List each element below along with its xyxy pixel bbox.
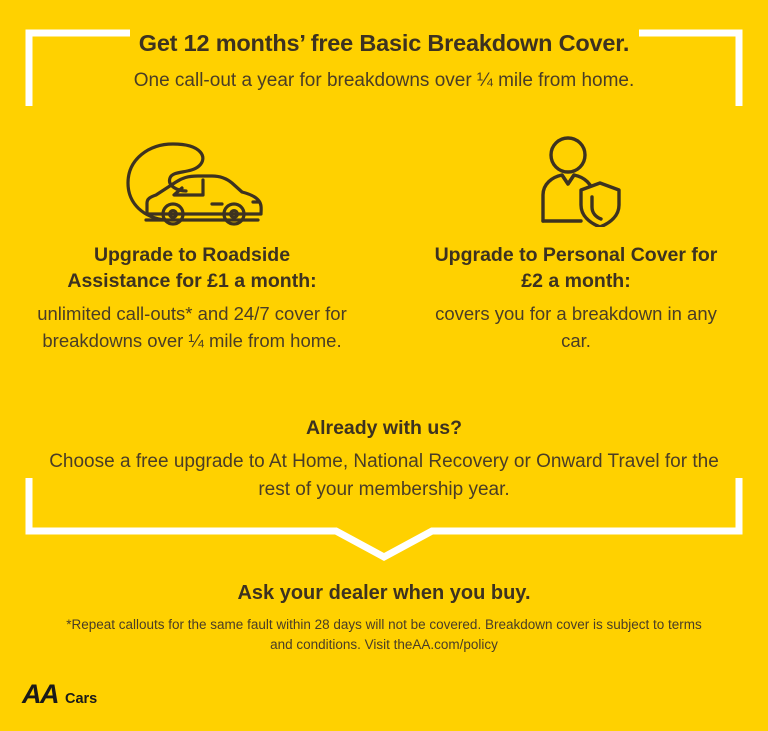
already-with-us-body: Choose a free upgrade to At Home, Nation… <box>34 448 734 504</box>
footer-call-to-action: Ask your dealer when you buy. <box>0 580 768 606</box>
page-subtitle: One call-out a year for breakdowns over … <box>0 68 768 94</box>
person-with-shield-icon <box>526 138 626 224</box>
promo-title: Upgrade to Personal Cover for £2 a month… <box>426 242 726 294</box>
aa-logo-mark: AA <box>22 681 58 708</box>
promo-body: unlimited call-outs* and 24/7 cover for … <box>37 300 347 354</box>
aa-logo-wordmark: Cars <box>65 692 97 707</box>
header-block: Get 12 months’ free Basic Breakdown Cove… <box>0 28 768 94</box>
footer-block: Ask your dealer when you buy. *Repeat ca… <box>0 580 768 655</box>
promo-card-personal-cover: Upgrade to Personal Cover for £2 a month… <box>384 138 768 354</box>
promo-body: covers you for a breakdown in any car. <box>421 300 731 354</box>
already-with-us-block: Already with us? Choose a free upgrade t… <box>0 415 768 504</box>
footer-smallprint: *Repeat callouts for the same fault with… <box>54 615 714 655</box>
already-with-us-title: Already with us? <box>0 415 768 441</box>
promo-columns: Upgrade to Roadside Assistance for £1 a … <box>0 138 768 354</box>
promo-card-roadside-assistance: Upgrade to Roadside Assistance for £1 a … <box>0 138 384 354</box>
car-on-winding-road-icon <box>116 138 268 224</box>
aa-cars-logo: AA Cars <box>22 681 97 708</box>
promo-poster: Get 12 months’ free Basic Breakdown Cove… <box>0 0 768 731</box>
promo-title: Upgrade to Roadside Assistance for £1 a … <box>42 242 342 294</box>
page-title: Get 12 months’ free Basic Breakdown Cove… <box>0 28 768 58</box>
